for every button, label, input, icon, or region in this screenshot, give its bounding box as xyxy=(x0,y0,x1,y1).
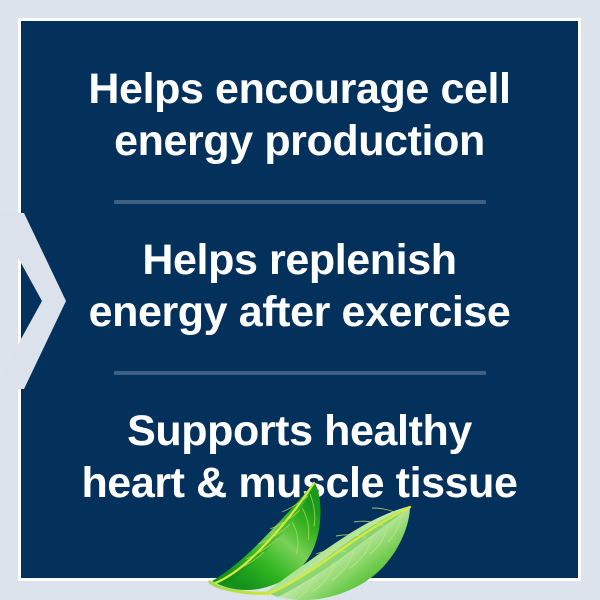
benefit-1-line-2: energy production xyxy=(47,115,552,167)
benefit-item-3: Supports healthy heart & muscle tissue xyxy=(21,405,578,510)
benefit-item-1: Helps encourage cell energy production xyxy=(21,63,578,168)
benefit-2-line-1: Helps replenish xyxy=(47,234,552,286)
benefit-3-line-1: Supports healthy xyxy=(47,405,552,457)
benefit-item-2: Helps replenish energy after exercise xyxy=(21,234,578,339)
divider-1 xyxy=(114,200,486,204)
promo-card-stage: Helps encourage cell energy production H… xyxy=(0,0,600,600)
benefit-1-line-1: Helps encourage cell xyxy=(47,63,552,115)
benefit-2-line-2: energy after exercise xyxy=(47,286,552,338)
divider-2 xyxy=(114,371,486,375)
benefit-3-line-2: heart & muscle tissue xyxy=(47,457,552,509)
benefits-list: Helps encourage cell energy production H… xyxy=(21,21,578,578)
